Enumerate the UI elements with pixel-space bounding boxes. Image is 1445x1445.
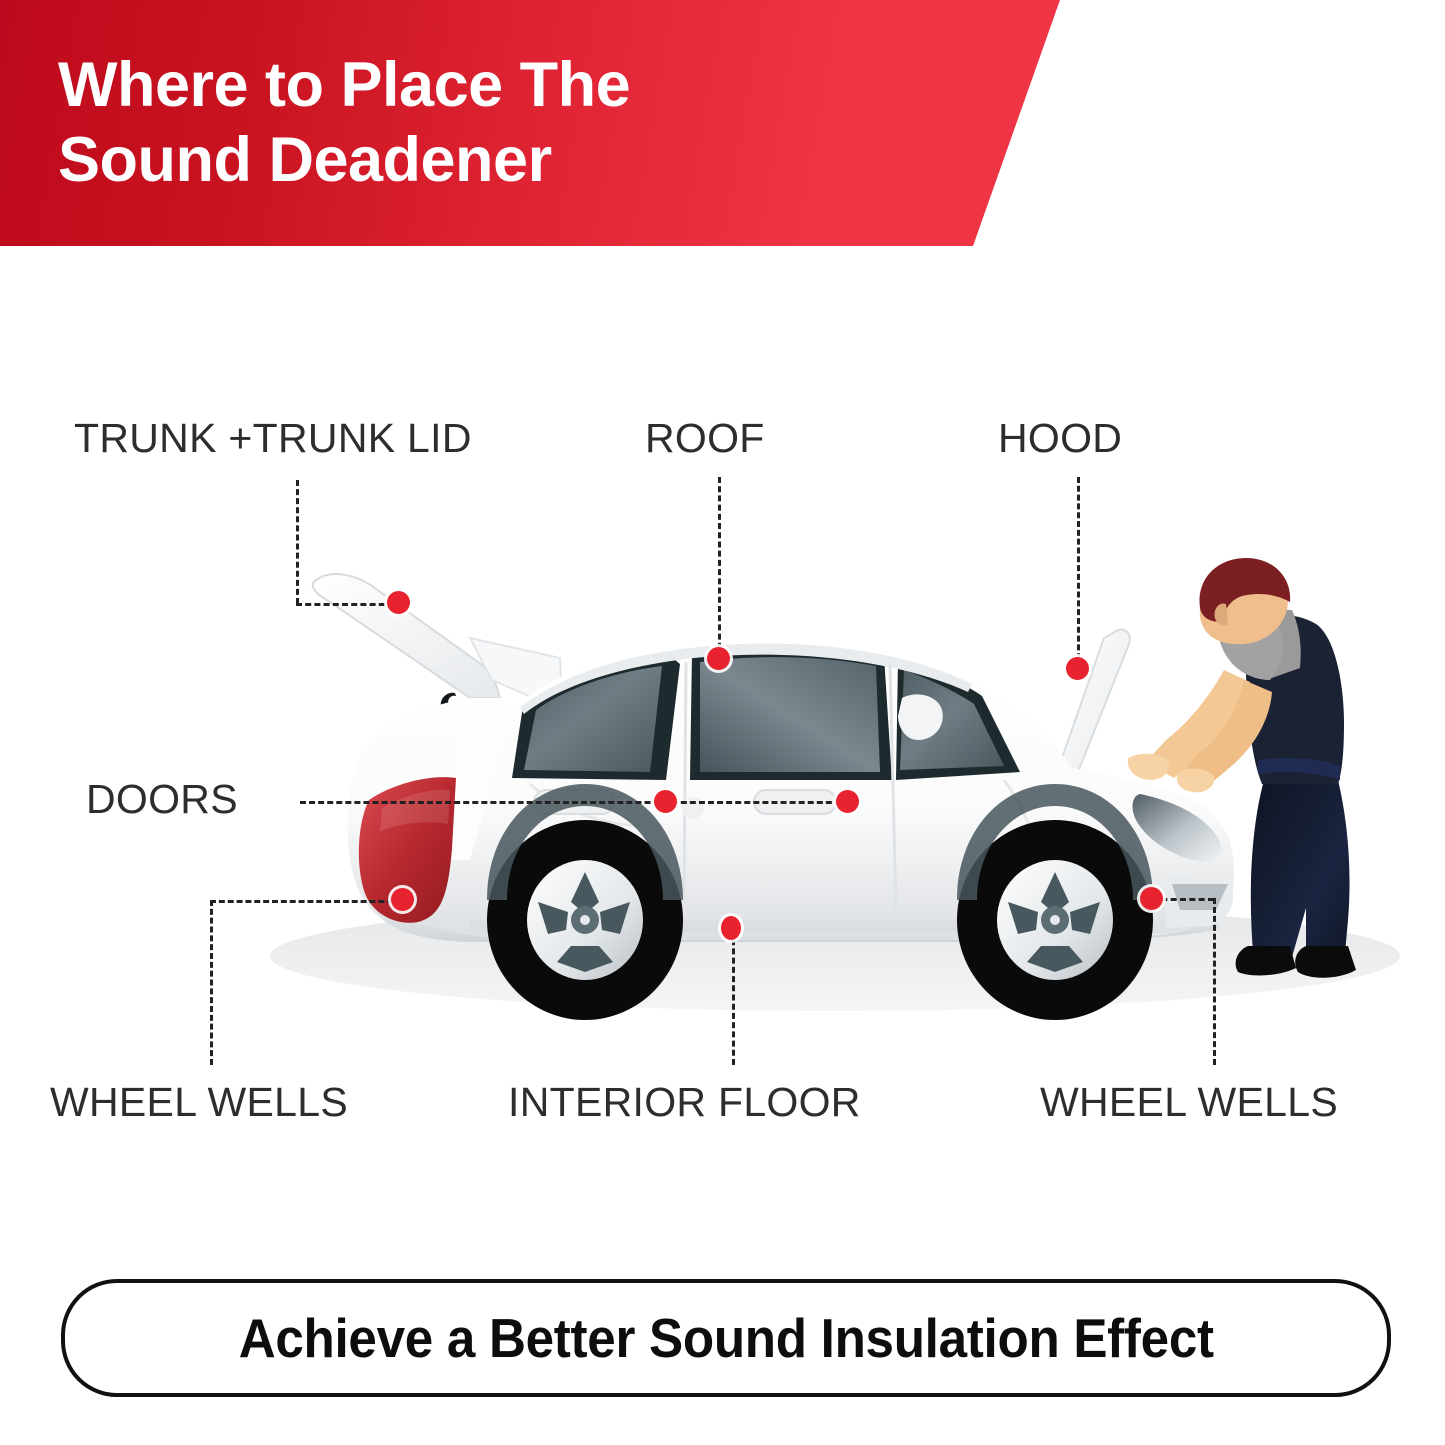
tech-shoe-right	[1295, 946, 1356, 978]
cta-banner: Achieve a Better Sound Insulation Effect	[61, 1279, 1391, 1397]
header-banner: Where to Place The Sound Deadener	[0, 0, 1060, 246]
marker-dot-hood	[1066, 657, 1089, 680]
leader-line-trunk-vertical	[296, 480, 299, 604]
trunk-lid-open	[313, 574, 500, 698]
door-seam-rear	[684, 662, 686, 900]
marker-dot-trunk	[387, 591, 410, 614]
leader-line-doors	[300, 801, 850, 804]
callout-label-hood: HOOD	[998, 418, 1122, 459]
cta-text: Achieve a Better Sound Insulation Effect	[238, 1306, 1213, 1370]
leader-line-roof	[718, 477, 721, 658]
rear-door-glass-fill	[700, 657, 880, 772]
leader-line-hood	[1077, 477, 1080, 668]
marker-dot-interior-floor	[721, 916, 741, 940]
marker-dot-door-front	[836, 790, 859, 813]
hood-open	[1060, 630, 1130, 778]
leader-line-wheel-wells-front-v	[1213, 898, 1216, 1065]
tech-hand-left	[1128, 754, 1169, 780]
callout-label-roof: ROOF	[645, 418, 765, 459]
marker-dot-roof	[707, 647, 730, 670]
leader-line-wheel-wells-rear-h	[210, 900, 402, 903]
callout-label-trunk: TRUNK +TRUNK LID	[74, 418, 472, 459]
leader-line-interior-floor	[732, 930, 735, 1065]
callout-label-wheel-wells-rear: WHEEL WELLS	[50, 1082, 348, 1123]
marker-dot-wheel-well-rear	[391, 888, 414, 911]
car-svg	[0, 380, 1445, 1080]
car-diagram-illustration	[0, 380, 1445, 1080]
callout-label-interior-floor: INTERIOR FLOOR	[508, 1082, 861, 1123]
callout-label-doors: DOORS	[86, 779, 238, 820]
tech-shoe-left	[1236, 946, 1296, 975]
marker-dot-door-rear	[654, 790, 677, 813]
page-title: Where to Place The Sound Deadener	[58, 48, 938, 198]
marker-dot-wheel-well-front	[1140, 887, 1163, 910]
leader-line-trunk-horizontal	[296, 603, 394, 606]
leader-line-wheel-wells-rear-v	[210, 900, 213, 1065]
callout-label-wheel-wells-front: WHEEL WELLS	[1040, 1082, 1338, 1123]
